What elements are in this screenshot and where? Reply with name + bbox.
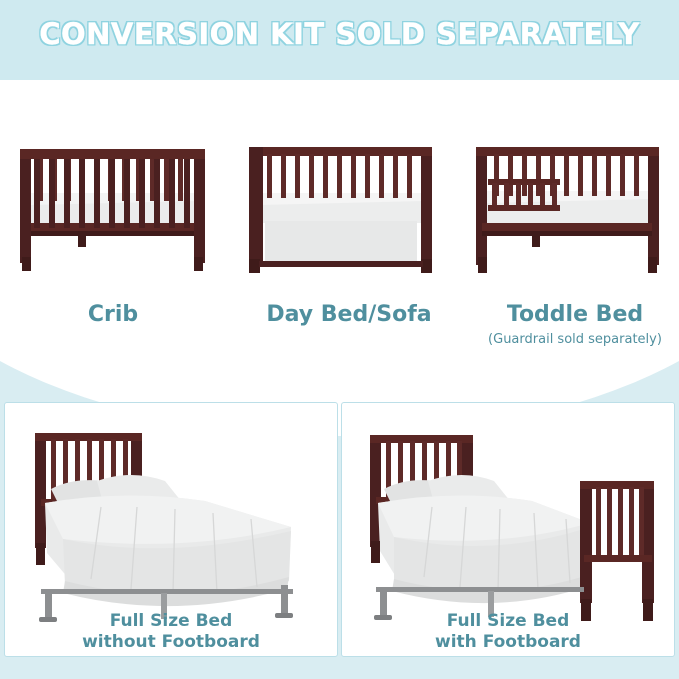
full-size-beds-section: Full Size Bed without Footboard Full Siz… [0,356,679,679]
toddler-bed-configuration-sublabel: (Guardrail sold separately) [455,332,679,347]
banner: CONVERSION KIT SOLD SEPARATELY [0,0,679,80]
banner-title: CONVERSION KIT SOLD SEPARATELY [0,17,679,51]
toddler-bed-configuration-label: Toddle Bed [455,302,679,327]
bed-label-line1: Full Size Bed [447,611,570,631]
guardrail [488,179,560,185]
day-bed-sofa-configuration [235,135,445,280]
toddler-bed-illustration [462,135,672,280]
day-bed-sofa-configuration-label: Day Bed/Sofa [229,302,469,327]
configurations-row [0,135,679,280]
day-bed-sofa-illustration [235,135,445,280]
crib-configuration-label: Crib [0,302,233,327]
toddler-bed-configuration [462,135,672,280]
crib-configuration [8,135,218,280]
bed-label-line2: with Footboard [435,632,581,652]
scalloped-edge-decoration [0,62,679,80]
full-size-bed-without-footboard-label: Full Size Bed without Footboard [4,611,338,653]
bed-label-line2: without Footboard [82,632,260,652]
crib-illustration [8,135,218,280]
configurations-section: Crib Day Bed/Sofa Toddle Bed (Guardrail … [0,80,679,356]
product-feature-image: CONVERSION KIT SOLD SEPARATELY [0,0,679,679]
bed-label-line1: Full Size Bed [110,611,233,631]
full-size-bed-with-footboard-label: Full Size Bed with Footboard [341,611,675,653]
